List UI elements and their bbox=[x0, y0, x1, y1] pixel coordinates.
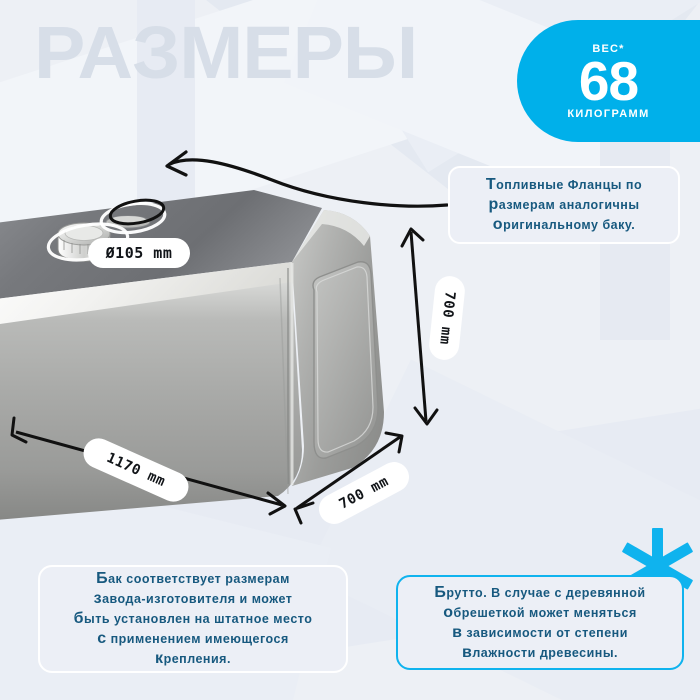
weight-badge: ВЕС* 68 КИЛОГРАММ bbox=[517, 20, 700, 142]
dimension-label-diameter: Ø105 mm bbox=[88, 238, 190, 268]
callout-fitment-line: быть установлен на штатное место bbox=[74, 609, 313, 629]
callout-fitment-line: с применением имеющегося bbox=[97, 629, 289, 649]
infographic-canvas: РАЗМЕРЫ ВЕС* 68 КИЛОГРАММ bbox=[0, 0, 700, 700]
callout-flange-line: оригинальному баку. bbox=[493, 215, 635, 235]
callout-flange-line: Топливные Фланцы по bbox=[486, 175, 642, 195]
callout-fitment: Бак соответствует размерам завода-изгото… bbox=[38, 565, 348, 673]
callout-gross-line: Брутто. В случае с деревянной bbox=[434, 583, 645, 603]
weight-badge-value: 68 bbox=[579, 53, 638, 109]
callout-fitment-line: Бак соответствует размерам bbox=[96, 569, 290, 589]
page-title: РАЗМЕРЫ bbox=[34, 16, 417, 90]
callout-gross-line: обрешеткой может меняться bbox=[443, 603, 637, 623]
dimension-label-height: 700 mm bbox=[428, 275, 467, 362]
callout-gross-line: в зависимости от степени bbox=[452, 623, 628, 643]
callout-fitment-line: завода-изготовителя и может bbox=[94, 589, 293, 609]
callout-fitment-line: крепления. bbox=[155, 649, 231, 669]
callout-flange: Топливные Фланцы по размерам аналогичны … bbox=[448, 166, 680, 244]
callout-gross-line: влажности древесины. bbox=[462, 643, 618, 663]
callout-flange-line: размерам аналогичны bbox=[488, 195, 639, 215]
callout-gross-weight: Брутто. В случае с деревянной обрешеткой… bbox=[396, 575, 684, 670]
weight-badge-unit: КИЛОГРАММ bbox=[567, 108, 649, 120]
